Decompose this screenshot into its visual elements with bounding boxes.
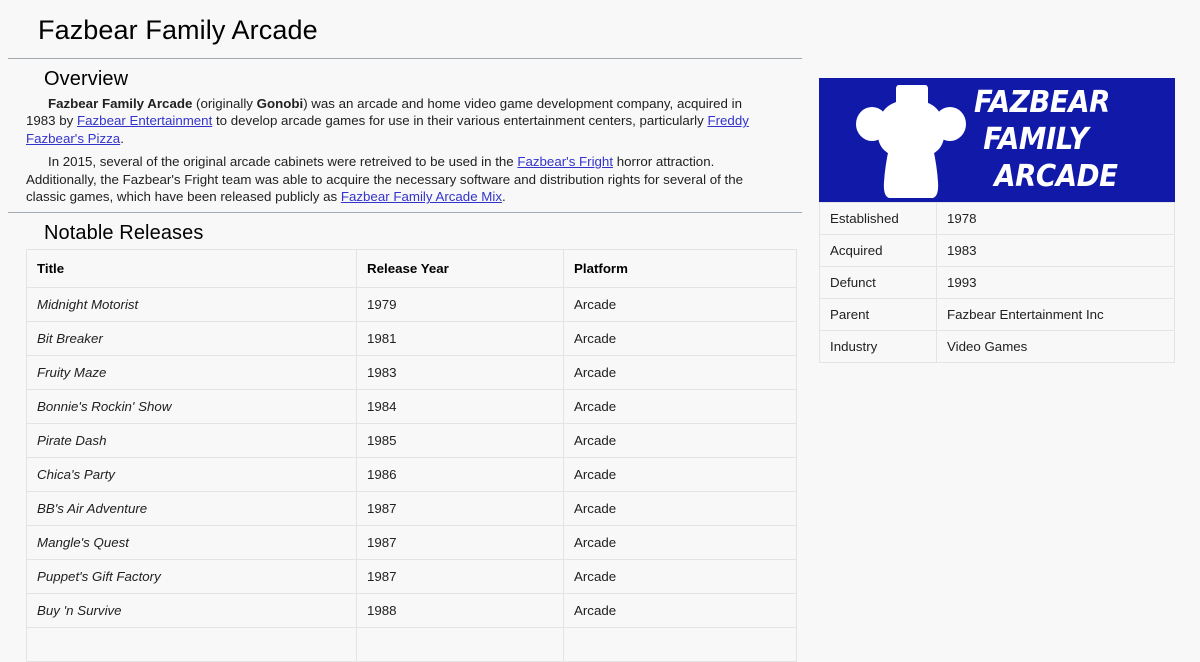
infobox: FAZBEAR FAMILY ARCADE Established1978Acq… bbox=[819, 78, 1175, 363]
overview-paragraph-2: In 2015, several of the original arcade … bbox=[26, 153, 762, 206]
overview-p1-text-c: to develop arcade games for use in their… bbox=[212, 113, 707, 128]
release-year: 1987 bbox=[357, 559, 564, 593]
infobox-label: Parent bbox=[820, 299, 937, 331]
infobox-value: Video Games bbox=[937, 331, 1175, 363]
section-heading-overview: Overview bbox=[8, 59, 802, 95]
main-content-column: Fazbear Family Arcade Overview Fazbear F… bbox=[8, 0, 802, 662]
table-row[interactable]: Mangle's Quest1987Arcade bbox=[27, 525, 797, 559]
release-platform: Arcade bbox=[564, 525, 797, 559]
infobox-facts-body: Established1978Acquired1983Defunct1993Pa… bbox=[820, 203, 1175, 363]
release-platform: Arcade bbox=[564, 593, 797, 627]
infobox-row: Established1978 bbox=[820, 203, 1175, 235]
table-row[interactable]: Fruity Maze1983Arcade bbox=[27, 355, 797, 389]
overview-p1-text-d: . bbox=[120, 131, 124, 146]
infobox-label: Acquired bbox=[820, 235, 937, 267]
release-title: Puppet's Gift Factory bbox=[27, 559, 357, 593]
release-platform bbox=[564, 627, 797, 661]
logo-line-3: ARCADE bbox=[974, 158, 1154, 195]
table-row[interactable]: BB's Air Adventure1987Arcade bbox=[27, 491, 797, 525]
infobox-label: Defunct bbox=[820, 267, 937, 299]
table-row[interactable]: Pirate Dash1985Arcade bbox=[27, 423, 797, 457]
table-row[interactable]: Puppet's Gift Factory1987Arcade bbox=[27, 559, 797, 593]
release-year: 1987 bbox=[357, 491, 564, 525]
release-year: 1984 bbox=[357, 389, 564, 423]
release-year: 1979 bbox=[357, 287, 564, 321]
infobox-row: IndustryVideo Games bbox=[820, 331, 1175, 363]
column-header-title[interactable]: Title bbox=[27, 249, 357, 287]
release-title: Bonnie's Rockin' Show bbox=[27, 389, 357, 423]
release-title: Chica's Party bbox=[27, 457, 357, 491]
infobox-facts-table: Established1978Acquired1983Defunct1993Pa… bbox=[819, 202, 1175, 363]
infobox-label: Industry bbox=[820, 331, 937, 363]
release-year: 1981 bbox=[357, 321, 564, 355]
release-title bbox=[27, 627, 357, 661]
table-row[interactable]: Chica's Party1986Arcade bbox=[27, 457, 797, 491]
table-row[interactable]: Midnight Motorist1979Arcade bbox=[27, 287, 797, 321]
logo-line-1: FAZBEAR bbox=[974, 84, 1154, 121]
release-platform: Arcade bbox=[564, 423, 797, 457]
infobox-label: Established bbox=[820, 203, 937, 235]
release-platform: Arcade bbox=[564, 457, 797, 491]
logo-line-2: FAMILY bbox=[974, 121, 1154, 158]
release-title: Mangle's Quest bbox=[27, 525, 357, 559]
column-header-platform[interactable]: Platform bbox=[564, 249, 797, 287]
release-year: 1983 bbox=[357, 355, 564, 389]
table-row[interactable]: Bonnie's Rockin' Show1984Arcade bbox=[27, 389, 797, 423]
release-year bbox=[357, 627, 564, 661]
table-row[interactable]: Buy 'n Survive1988Arcade bbox=[27, 593, 797, 627]
releases-table-wrapper: Title Release Year Platform Midnight Mot… bbox=[8, 249, 802, 662]
link-fazbears-fright[interactable]: Fazbear's Fright bbox=[517, 154, 613, 169]
release-platform: Arcade bbox=[564, 491, 797, 525]
infobox-logo-text: FAZBEAR FAMILY ARCADE bbox=[974, 84, 1170, 195]
release-platform: Arcade bbox=[564, 355, 797, 389]
notable-releases-table: Title Release Year Platform Midnight Mot… bbox=[26, 249, 797, 662]
overview-p2-text-a: In 2015, several of the original arcade … bbox=[48, 154, 517, 169]
release-title: Buy 'n Survive bbox=[27, 593, 357, 627]
release-platform: Arcade bbox=[564, 389, 797, 423]
release-title: Fruity Maze bbox=[27, 355, 357, 389]
link-fazbear-family-arcade-mix[interactable]: Fazbear Family Arcade Mix bbox=[341, 189, 502, 204]
infobox-logo-banner: FAZBEAR FAMILY ARCADE bbox=[819, 78, 1175, 202]
infobox-value: 1983 bbox=[937, 235, 1175, 267]
infobox-value: 1993 bbox=[937, 267, 1175, 299]
lead-term: Fazbear Family Arcade bbox=[48, 96, 192, 111]
release-platform: Arcade bbox=[564, 321, 797, 355]
overview-p1-text-a: (originally bbox=[192, 96, 256, 111]
page-title: Fazbear Family Arcade bbox=[8, 0, 802, 58]
overview-paragraph-1: Fazbear Family Arcade (originally Gonobi… bbox=[26, 95, 762, 148]
infobox-row: ParentFazbear Entertainment Inc bbox=[820, 299, 1175, 331]
release-year: 1986 bbox=[357, 457, 564, 491]
release-year: 1987 bbox=[357, 525, 564, 559]
infobox-value: 1978 bbox=[937, 203, 1175, 235]
overview-p2-text-c: . bbox=[502, 189, 506, 204]
alias-term: Gonobi bbox=[257, 96, 304, 111]
freddy-bear-silhouette-icon bbox=[855, 82, 967, 200]
infobox-value: Fazbear Entertainment Inc bbox=[937, 299, 1175, 331]
section-heading-notable-releases: Notable Releases bbox=[8, 213, 802, 249]
releases-table-body: Midnight Motorist1979ArcadeBit Breaker19… bbox=[27, 287, 797, 661]
release-title: Bit Breaker bbox=[27, 321, 357, 355]
table-row[interactable]: Bit Breaker1981Arcade bbox=[27, 321, 797, 355]
infobox-row: Acquired1983 bbox=[820, 235, 1175, 267]
release-year: 1988 bbox=[357, 593, 564, 627]
overview-body: Fazbear Family Arcade (originally Gonobi… bbox=[8, 95, 802, 206]
link-fazbear-entertainment[interactable]: Fazbear Entertainment bbox=[77, 113, 212, 128]
wiki-article-page: Fazbear Family Arcade Overview Fazbear F… bbox=[0, 0, 1200, 630]
release-title: BB's Air Adventure bbox=[27, 491, 357, 525]
release-title: Midnight Motorist bbox=[27, 287, 357, 321]
table-header-row: Title Release Year Platform bbox=[27, 249, 797, 287]
release-title: Pirate Dash bbox=[27, 423, 357, 457]
column-header-year[interactable]: Release Year bbox=[357, 249, 564, 287]
release-platform: Arcade bbox=[564, 559, 797, 593]
table-row[interactable] bbox=[27, 627, 797, 661]
release-year: 1985 bbox=[357, 423, 564, 457]
infobox-row: Defunct1993 bbox=[820, 267, 1175, 299]
release-platform: Arcade bbox=[564, 287, 797, 321]
